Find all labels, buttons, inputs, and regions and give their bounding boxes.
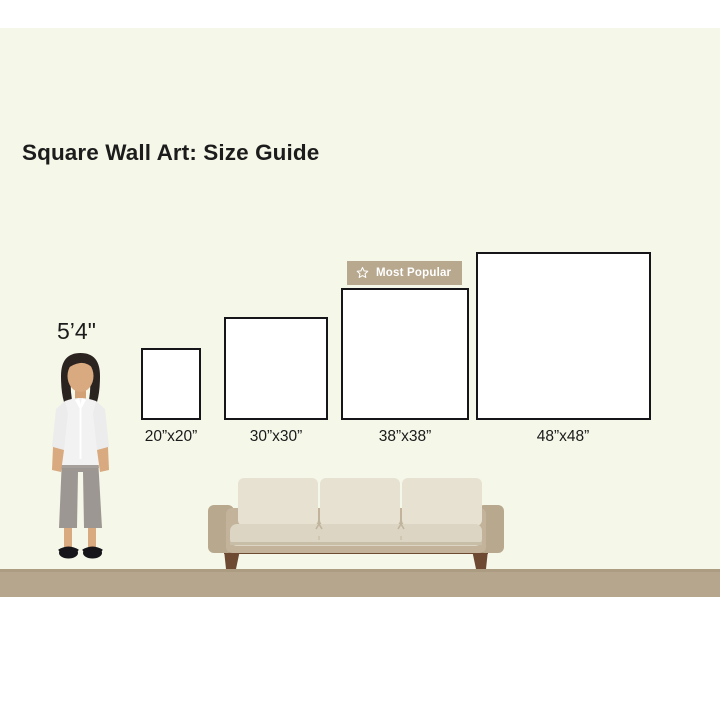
frame-label-20: 20”x20” xyxy=(111,428,231,446)
sofa-svg xyxy=(196,472,516,571)
star-icon xyxy=(356,266,369,279)
frame-label-48: 48”x48” xyxy=(503,428,623,446)
woman-figure-svg xyxy=(34,352,126,570)
most-popular-label: Most Popular xyxy=(376,267,451,279)
woman-figure xyxy=(34,352,126,570)
frame-20[interactable] xyxy=(141,348,201,420)
frame-label-38: 38”x38” xyxy=(345,428,465,446)
floor-band xyxy=(0,569,720,597)
most-popular-badge: Most Popular xyxy=(347,261,462,285)
frame-label-30: 30”x30” xyxy=(216,428,336,446)
frame-48[interactable] xyxy=(476,252,651,420)
page-title: Square Wall Art: Size Guide xyxy=(22,140,319,166)
three-seat-sofa xyxy=(196,472,516,571)
frame-38[interactable] xyxy=(341,288,469,420)
size-guide-infographic: Square Wall Art: Size Guide 5’4" xyxy=(0,0,720,720)
person-height-label: 5’4" xyxy=(57,318,96,345)
frame-30[interactable] xyxy=(224,317,328,420)
